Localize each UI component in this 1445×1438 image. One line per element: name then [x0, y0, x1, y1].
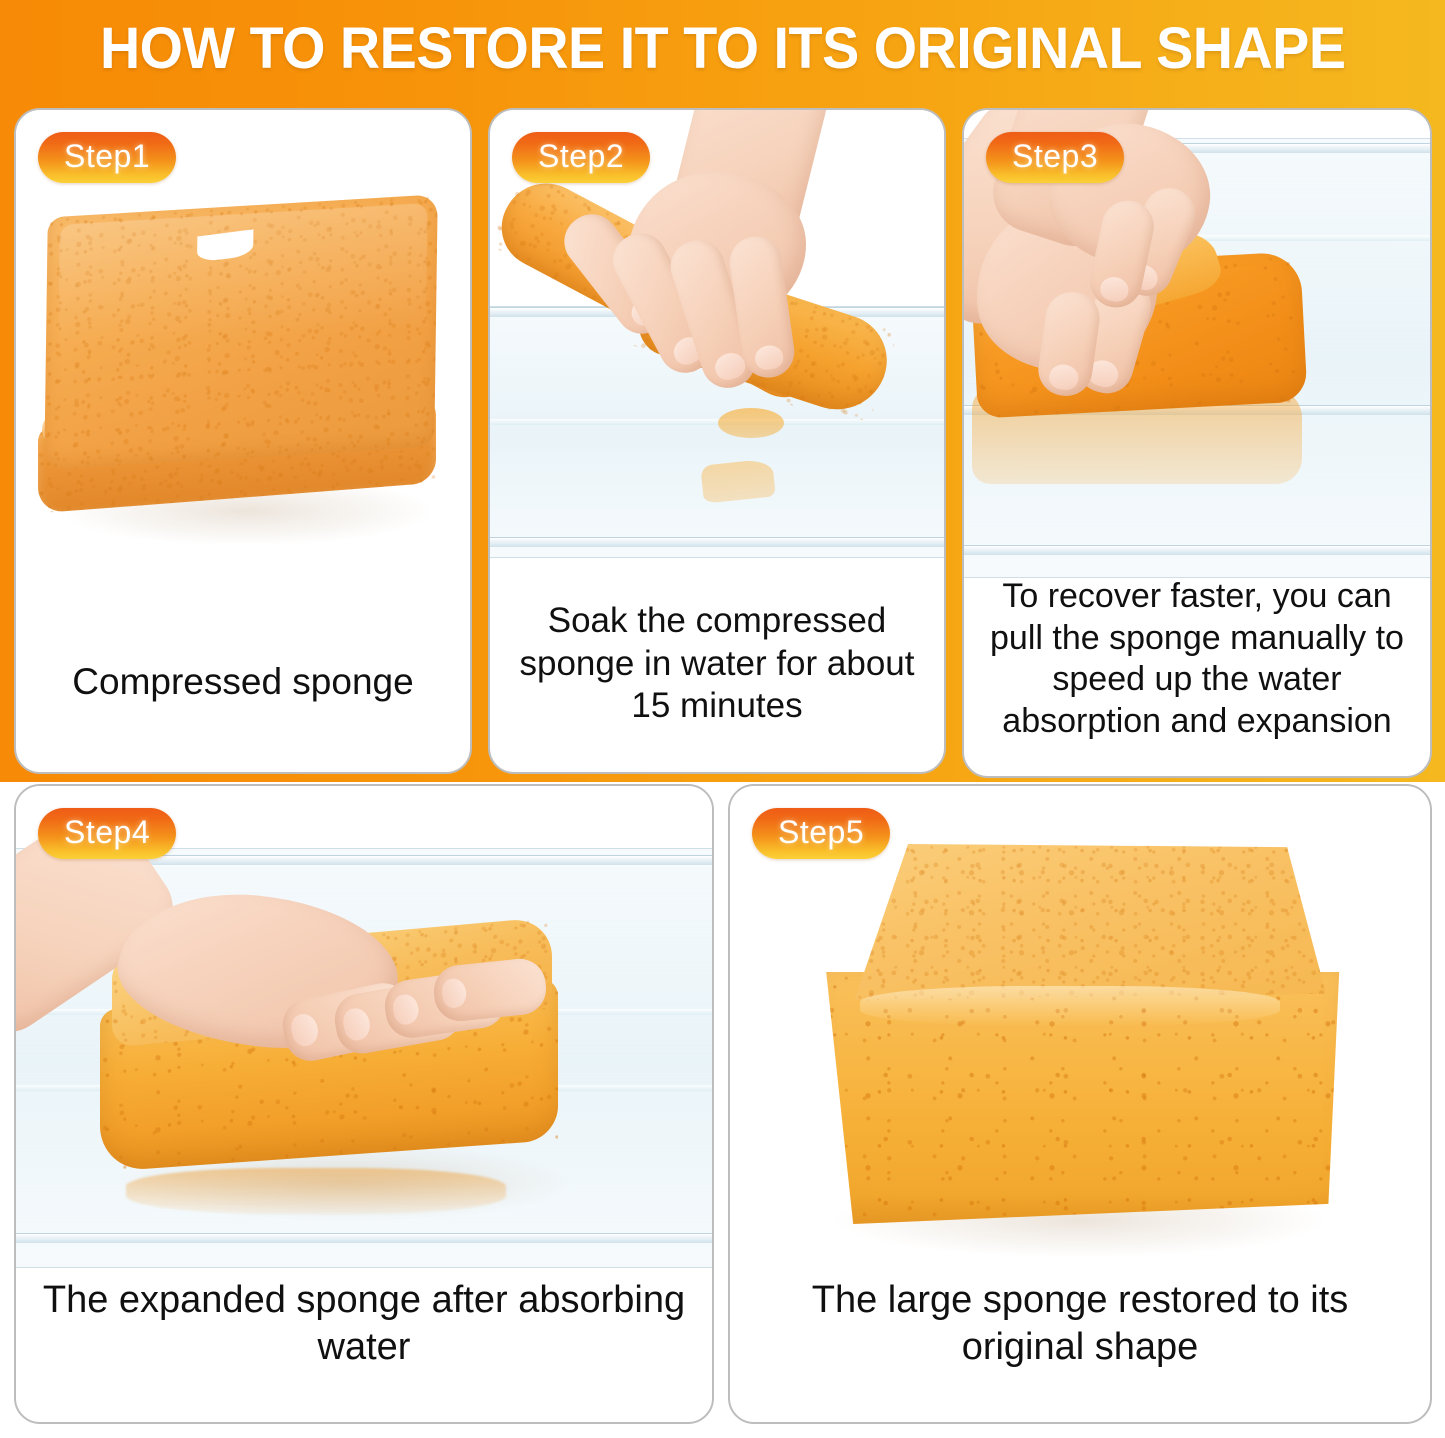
- step-image-1: [16, 110, 470, 630]
- infographic-page: HOW TO RESTORE IT TO ITS ORIGINAL SHAPE …: [0, 0, 1445, 1438]
- sponge-water-reflection-4: [126, 1168, 506, 1214]
- step-card-3[interactable]: Step3: [962, 108, 1432, 778]
- step-badge-4: Step4: [38, 808, 176, 859]
- sponge-reflection-b: [700, 458, 776, 503]
- step-caption-4: The expanded sponge after absorbing wate…: [16, 1277, 712, 1390]
- step-image-4: [16, 786, 712, 1306]
- step-badge-5: Step5: [752, 808, 890, 859]
- step-image-3: [964, 110, 1430, 600]
- restored-sponge-top: [840, 844, 1326, 1000]
- step-caption-1: Compressed sponge: [16, 659, 470, 724]
- step-card-5[interactable]: Step5 The large sponge restored to its o…: [728, 784, 1432, 1424]
- step-caption-2: Soak the compressed sponge in water for …: [490, 600, 944, 748]
- step-card-1[interactable]: Step1 Compressed sponge: [14, 108, 472, 774]
- sponge-top-face: [44, 194, 437, 469]
- step-caption-3: To recover faster, you can pull the spon…: [964, 576, 1430, 762]
- step-image-2: [490, 110, 944, 610]
- step-badge-2: Step2: [512, 132, 650, 183]
- sponge-highlight: [860, 986, 1280, 1026]
- step-image-5: [730, 786, 1430, 1306]
- sponge-reflection-a: [718, 408, 784, 438]
- page-title: HOW TO RESTORE IT TO ITS ORIGINAL SHAPE: [100, 15, 1346, 82]
- step-card-4[interactable]: Step4: [14, 784, 714, 1424]
- step-badge-3: Step3: [986, 132, 1124, 183]
- step-badge-1: Step1: [38, 132, 176, 183]
- page-header: HOW TO RESTORE IT TO ITS ORIGINAL SHAPE: [0, 0, 1445, 96]
- step-caption-5: The large sponge restored to its origina…: [730, 1277, 1430, 1390]
- step-card-2[interactable]: Step2: [488, 108, 946, 774]
